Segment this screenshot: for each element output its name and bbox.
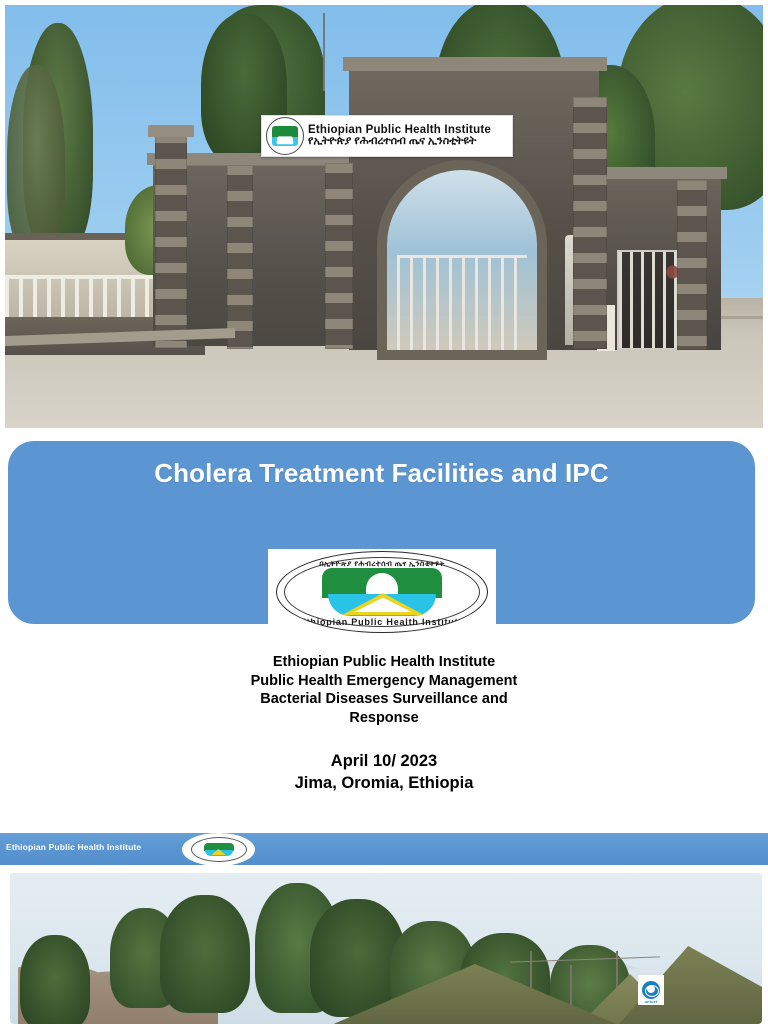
seal-emblem [272, 126, 298, 146]
gate-signboard: Ethiopian Public Health Institute የኢትዮጵያ… [261, 115, 513, 157]
antenna-mast [323, 13, 325, 91]
signboard-amharic: የኢትዮጵያ የሕብረተሰብ ጤና ኢንስቲትዩት [308, 136, 508, 148]
org-line-2: Public Health Emergency Management [0, 672, 768, 691]
stone-pillar [573, 97, 607, 349]
gate-arch-cap [343, 57, 607, 71]
signboard-text: Ethiopian Public Health Institute የኢትዮጵያ… [308, 124, 508, 148]
stone-pillar-cap [148, 125, 194, 137]
footer-ephi-seal-icon [182, 833, 255, 866]
slide-root: Ethiopian Public Health Institute የኢትዮጵያ… [0, 0, 768, 1024]
stone-pillar [155, 133, 187, 348]
org-line-4: Response [0, 709, 768, 728]
stone-pillar [227, 165, 253, 349]
gate-right-cap [595, 167, 727, 179]
stone-pillar [325, 163, 353, 349]
tree [7, 65, 65, 255]
ephi-seal-icon [266, 117, 304, 155]
footer-label: Ethiopian Public Health Institute [6, 842, 141, 852]
tree [160, 895, 250, 1013]
footer-seal-emblem [204, 843, 234, 856]
footer-seal-oval [191, 837, 247, 862]
ephi-logo-emblem [322, 568, 442, 616]
ephi-logo-oval: በኢትዮጵያ የሕብረተሰብ ጤና ኢንስቲትዩት Ethiopian Publ… [276, 551, 488, 633]
organization-block: Ethiopian Public Health Institute Public… [0, 653, 768, 727]
fence-rail [5, 275, 157, 321]
event-block: April 10/ 2023 Jima, Oromia, Ethiopia [0, 750, 768, 795]
org-line-3: Bacterial Diseases Surveillance and [0, 690, 768, 709]
footer-bar: Ethiopian Public Health Institute [0, 833, 768, 865]
ephi-logo-english-ring: Ethiopian Public Health Institute [277, 617, 487, 627]
ephi-logo: በኢትዮጵያ የሕብረተሰብ ጤና ኢንስቲትዩት Ethiopian Publ… [268, 549, 496, 635]
page-title: Cholera Treatment Facilities and IPC [8, 458, 755, 489]
stone-pillar [677, 180, 707, 350]
top-photo-ephi-gate: Ethiopian Public Health Institute የኢትዮጵያ… [5, 5, 763, 428]
bottom-photo-treatment-tents: unicef [10, 873, 762, 1024]
unicef-logo-icon: unicef [638, 975, 664, 1005]
org-line-1: Ethiopian Public Health Institute [0, 653, 768, 672]
unicef-label: unicef [638, 999, 664, 1004]
event-date: April 10/ 2023 [0, 750, 768, 772]
tree [20, 935, 90, 1024]
unicef-emblem [642, 981, 660, 999]
gate-inner-grille [397, 255, 527, 350]
utility-pole [570, 965, 572, 1011]
event-location: Jima, Oromia, Ethiopia [0, 772, 768, 794]
